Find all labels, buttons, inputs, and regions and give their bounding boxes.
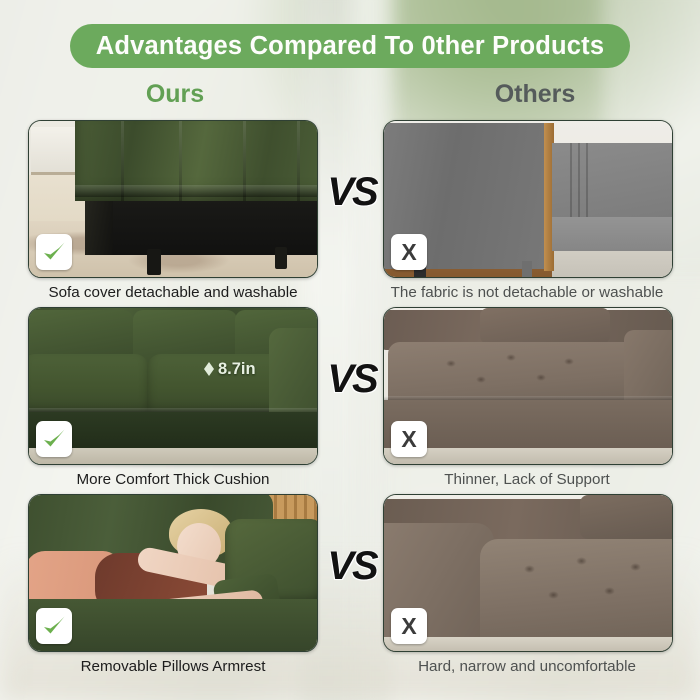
status-badge-check: [36, 608, 72, 644]
others-caption-1: The fabric is not detachable or washable: [362, 283, 692, 303]
ours-image-card-3: [28, 494, 318, 652]
scene-tuft: [476, 376, 486, 383]
scene-tuft: [564, 358, 574, 365]
cross-icon: X: [401, 241, 416, 264]
vs-divider-3: VS: [320, 546, 384, 586]
scene-seat-cushion: [480, 539, 673, 652]
scene-sofa-base: [85, 193, 318, 255]
vs-divider-1: VS: [320, 172, 384, 212]
check-icon: [41, 426, 67, 452]
cross-icon: X: [401, 615, 416, 638]
comparison-row-1: X VS Sofa cover detachable and washable …: [0, 120, 700, 306]
scene-tuft: [524, 565, 535, 573]
status-badge-cross: X: [391, 421, 427, 457]
cross-icon: X: [401, 428, 416, 451]
scene-tuft: [506, 354, 516, 361]
scene-tuft: [576, 557, 587, 565]
scene-brown-sofa-narrow-armrest: [384, 495, 672, 651]
others-image-card-3: X: [383, 494, 673, 652]
ours-image-card-2: 8.7in: [28, 307, 318, 465]
others-image-card-1: X: [383, 120, 673, 278]
scene-floor: [384, 637, 672, 651]
scene-back-pillow: [480, 308, 610, 344]
status-badge-cross: X: [391, 234, 427, 270]
check-icon: [41, 239, 67, 265]
scene-seat-cushion: [28, 354, 149, 416]
measurement-label: 8.7in: [218, 361, 256, 378]
comparison-row-2: 8.7in: [0, 307, 700, 493]
scene-floor: [29, 448, 317, 464]
scene-sofa-leg: [522, 261, 532, 278]
ours-image-card-1: [28, 120, 318, 278]
arrow-head-down-icon: [204, 369, 214, 376]
measurement-arrow: [203, 362, 215, 376]
others-caption-2: Thinner, Lack of Support: [362, 470, 692, 490]
status-badge-check: [36, 234, 72, 270]
scene-tuft: [446, 360, 456, 367]
scene-floor: [384, 448, 672, 464]
check-icon: [41, 613, 67, 639]
ours-caption-3: Removable Pillows Armrest: [8, 657, 338, 677]
scene-cover-hem: [75, 185, 318, 197]
column-header-others: Others: [435, 80, 635, 109]
scene-sofa-leg: [147, 249, 161, 275]
status-badge-cross: X: [391, 608, 427, 644]
scene-sofa-skirt: [384, 400, 673, 452]
ours-caption-2: More Comfort Thick Cushion: [8, 470, 338, 490]
scene-green-sofa-skirt: [29, 121, 317, 277]
column-header-ours: Ours: [75, 80, 275, 109]
scene-gray-sofa-wood-trim: [384, 121, 672, 277]
status-badge-check: [36, 421, 72, 457]
vs-divider-2: VS: [320, 359, 384, 399]
scene-sofa-skirt: [552, 217, 673, 251]
scene-back-pillow: [580, 495, 673, 539]
others-caption-3: Hard, narrow and uncomfortable: [362, 657, 692, 677]
others-image-card-2: 3.9in X: [383, 307, 673, 465]
comparison-row-3: X VS Removable Pillows Armrest Hard, nar…: [0, 494, 700, 686]
page-title-banner: Advantages Compared To 0ther Products: [70, 24, 630, 68]
scene-tuft: [604, 587, 615, 595]
ours-caption-1: Sofa cover detachable and washable: [8, 283, 338, 303]
scene-tuft: [548, 591, 559, 599]
page-title: Advantages Compared To 0ther Products: [96, 32, 605, 61]
arrow-head-up-icon: [204, 362, 214, 369]
scene-green-sofa-thick-cushion: 8.7in: [29, 308, 317, 464]
scene-tuft: [630, 563, 641, 571]
scene-brown-sofa-thin-cushion: 3.9in: [384, 308, 672, 464]
scene-tuft: [536, 374, 546, 381]
measurement-ours-cushion-thickness: 8.7in: [203, 326, 256, 412]
scene-sofa-leg: [275, 247, 287, 269]
scene-woman-on-pillow-armrest: [29, 495, 317, 651]
